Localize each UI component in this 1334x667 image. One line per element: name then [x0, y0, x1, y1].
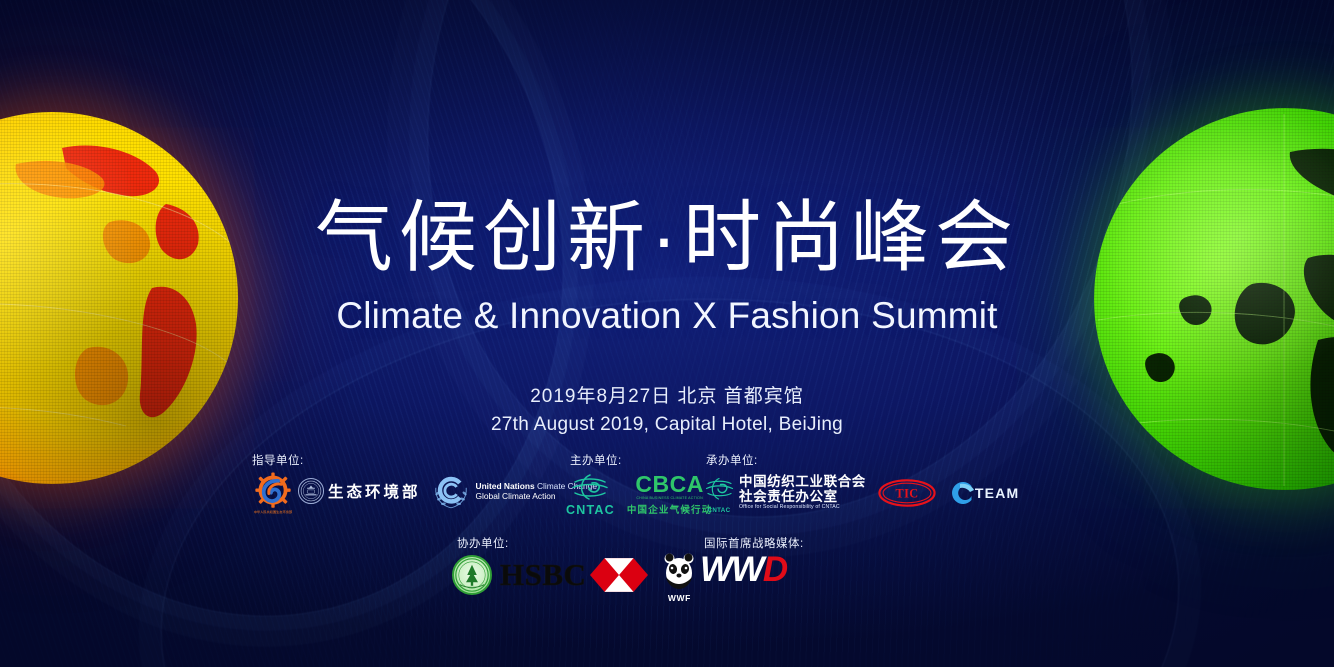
osr-chinese-line2: 社会责任办公室 [739, 489, 866, 504]
wwd-d-part: D [763, 550, 787, 589]
logo-cteam: TEAM [948, 478, 1019, 508]
cbca-chinese-name: 中国企业气候行动 [627, 502, 713, 516]
event-date-english: 27th August 2019, Capital Hotel, BeiJing [0, 411, 1334, 440]
event-date-chinese: 2019年8月27日 北京 首都宾馆 [0, 383, 1334, 411]
national-emblem-icon [298, 478, 324, 504]
wwf-caption: WWF [656, 593, 702, 603]
unfccc-laurel-c-icon [431, 471, 471, 511]
osr-globe-caption: CNTAC [702, 507, 736, 514]
event-details: 2019年8月27日 北京 首都宾馆 27th August 2019, Cap… [0, 383, 1334, 439]
cntac-wordmark: CNTAC [566, 503, 615, 517]
cbca-wordmark: CBCA [627, 473, 713, 496]
wwd-ww-part: WW [700, 550, 763, 589]
label-coorganizer-unit: 协办单位: [457, 535, 509, 551]
logo-wwf: WWF [656, 551, 702, 599]
coorganizer-logos-row: HSBC [452, 551, 702, 599]
logo-cntac: CNTAC [566, 472, 615, 517]
host-logos-row: CNTAC CBCA CHINA BUSINESS CLIMATE ACTION… [566, 472, 712, 517]
mee-gear-icon: 中华人民共和国生态环境部 [252, 470, 294, 512]
svg-text:TIC: TIC [895, 486, 918, 500]
osr-globe-icon: CNTAC [702, 476, 736, 510]
page-title-english: Climate & Innovation X Fashion Summit [0, 296, 1334, 337]
mee-name-chinese: 生态环境部 [328, 480, 421, 502]
logo-wwd: WWD [700, 552, 787, 587]
media-logos-row: WWD [700, 552, 787, 587]
logo-mee: 中华人民共和国生态环境部 生态环境部 [252, 470, 421, 512]
label-media-partner: 国际首席战略媒体: [704, 535, 804, 551]
label-organizer-unit: 承办单位: [706, 452, 758, 468]
cteam-wordmark: TEAM [975, 485, 1019, 501]
mee-gear-subtext: 中华人民共和国生态环境部 [252, 509, 294, 514]
logo-tic: TIC [878, 479, 936, 507]
page-title-chinese: 气候创新·时尚峰会 [0, 196, 1334, 279]
logo-cbca: CBCA CHINA BUSINESS CLIMATE ACTION 中国企业气… [627, 473, 713, 516]
poster-canvas: 气候创新·时尚峰会 Climate & Innovation X Fashion… [0, 0, 1334, 667]
cteam-c-icon [948, 478, 978, 508]
hsbc-wordmark: HSBC [500, 557, 586, 593]
osr-english-line: Office for Social Responsibility of CNTA… [739, 505, 866, 511]
label-guidance-unit: 指导单位: [252, 452, 304, 468]
osr-chinese-line1: 中国纺织工业联合会 [739, 474, 866, 489]
organizer-logos-row: CNTAC 中国纺织工业联合会 社会责任办公室 Office for Socia… [702, 474, 1019, 511]
cntac-sphere-icon [570, 472, 610, 502]
unfccc-line1-bold: United Nations [476, 481, 537, 491]
logo-coorganizer-green-circle [452, 555, 492, 595]
logo-hsbc: HSBC [500, 557, 648, 593]
label-host-unit: 主办单位: [570, 452, 622, 468]
logo-cntac-osr: CNTAC 中国纺织工业联合会 社会责任办公室 Office for Socia… [702, 474, 866, 511]
osr-wordmark: 中国纺织工业联合会 社会责任办公室 Office for Social Resp… [739, 474, 866, 511]
guidance-logos-row: 中华人民共和国生态环境部 生态环境部 [252, 470, 597, 512]
hsbc-hexagon-icon [590, 558, 648, 592]
